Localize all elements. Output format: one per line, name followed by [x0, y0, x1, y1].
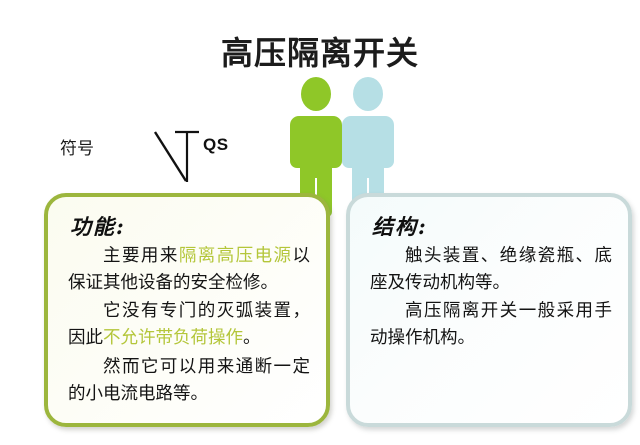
symbol-label: 符号	[60, 134, 94, 159]
page-title: 高压隔离开关	[0, 28, 640, 74]
structure-panel-heading: 结构:	[372, 211, 428, 241]
structure-p1-pre: 触头装置、绝缘瓷瓶、底座及传动机构等。	[370, 246, 612, 293]
function-p2-post: 。	[243, 328, 261, 348]
function-p2-highlight: 不允许带负荷操作	[103, 328, 243, 348]
structure-paragraph-1: 触头装置、绝缘瓷瓶、底座及传动机构等。	[370, 243, 612, 297]
watermark	[0, 434, 640, 445]
symbol-group: 符号 QS	[55, 118, 255, 188]
function-p3-pre: 然而它可以用来通断一定的小电流电路等。	[68, 357, 310, 404]
structure-p2-pre: 高压隔离开关一般采用手动操作机构。	[370, 301, 612, 348]
structure-paragraph-2: 高压隔离开关一般采用手动操作机构。	[370, 298, 612, 352]
function-paragraph-3: 然而它可以用来通断一定的小电流电路等。	[68, 354, 310, 408]
structure-panel-body: 触头装置、绝缘瓷瓶、底座及传动机构等。 高压隔离开关一般采用手动操作机构。	[370, 243, 612, 354]
symbol-designator: QS	[203, 135, 229, 155]
structure-panel: 结构: 触头装置、绝缘瓷瓶、底座及传动机构等。 高压隔离开关一般采用手动操作机构…	[346, 193, 632, 427]
function-p1-pre: 主要用来	[103, 246, 179, 266]
function-panel: 功能: 主要用来隔离高压电源以保证其他设备的安全检修。 它没有专门的灭弧装置，因…	[44, 193, 330, 427]
function-paragraph-1: 主要用来隔离高压电源以保证其他设备的安全检修。	[68, 243, 310, 297]
function-paragraph-2: 它没有专门的灭弧装置，因此不允许带负荷操作。	[68, 298, 310, 352]
function-p1-highlight: 隔离高压电源	[179, 246, 293, 266]
function-panel-body: 主要用来隔离高压电源以保证其他设备的安全检修。 它没有专门的灭弧装置，因此不允许…	[68, 243, 310, 409]
function-panel-heading: 功能:	[70, 211, 126, 241]
